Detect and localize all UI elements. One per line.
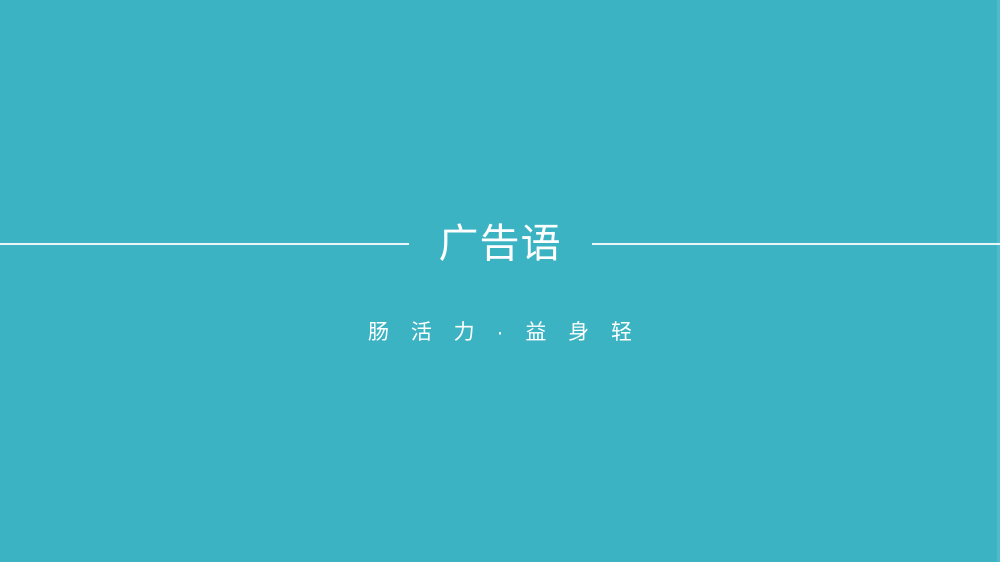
horizontal-rule-left-icon [0,243,409,245]
page-title: 广告语 [409,224,592,264]
presentation-slide: 广告语 肠 活 力 · 益 身 轻 [0,0,1000,562]
horizontal-rule-right-icon [592,243,1000,245]
title-with-dividers: 广告语 [0,206,1000,282]
slide-subtitle: 肠 活 力 · 益 身 轻 [0,318,1000,347]
